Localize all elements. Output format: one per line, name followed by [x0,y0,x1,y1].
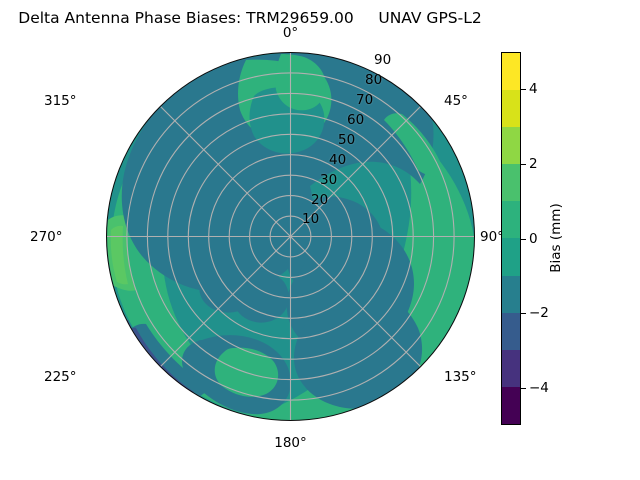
colorbar-gradient [501,52,521,425]
angular-label-45: 45° [444,94,468,108]
colorbar-band [502,387,520,424]
polar-plot[interactable]: 0° 45° 90° 135° 180° 225° 270° 315° 10 2… [106,52,475,421]
radial-label-80: 80 [365,73,382,87]
angular-label-0: 0° [283,26,298,40]
colorbar-band [502,164,520,201]
page-title: Delta Antenna Phase Biases: TRM29659.00 … [0,8,500,28]
colorbar-tick-label: 4 [529,82,538,96]
angular-label-270: 270° [30,230,63,244]
polar-gridlines [107,53,475,421]
colorbar-tick [521,164,526,165]
colorbar-tick-label: 2 [529,157,538,171]
colorbar-band [502,201,520,238]
colorbar-tick [521,89,526,90]
contour-svg [106,52,475,421]
figure-canvas: Delta Antenna Phase Biases: TRM29659.00 … [0,0,640,480]
colorbar-tick-label: 0 [529,232,538,246]
colorbar-band [502,313,520,350]
angular-label-180: 180° [274,436,307,450]
radial-label-70: 70 [356,93,373,107]
radial-label-10: 10 [302,212,319,226]
radial-label-60: 60 [347,113,364,127]
colorbar-band [502,53,520,90]
radial-label-90: 90 [374,53,391,67]
colorbar-tick-label: −2 [529,306,549,320]
contour-surface [106,52,475,421]
colorbar-tick [521,239,526,240]
radial-label-50: 50 [338,133,355,147]
colorbar-band [502,90,520,127]
colorbar-band [502,276,520,313]
angular-label-225: 225° [44,370,77,384]
colorbar-axis-label: Bias (mm) [548,203,564,272]
radial-label-40: 40 [329,153,346,167]
angular-label-315: 315° [44,94,77,108]
angular-label-135: 135° [444,370,477,384]
radial-label-20: 20 [311,193,328,207]
colorbar-tick [521,313,526,314]
radial-label-30: 30 [320,173,337,187]
colorbar-tick [521,388,526,389]
colorbar-band [502,127,520,164]
colorbar-tick-label: −4 [529,381,549,395]
colorbar-band [502,238,520,275]
colorbar[interactable]: −4−2024 [501,52,521,425]
colorbar-band [502,350,520,387]
